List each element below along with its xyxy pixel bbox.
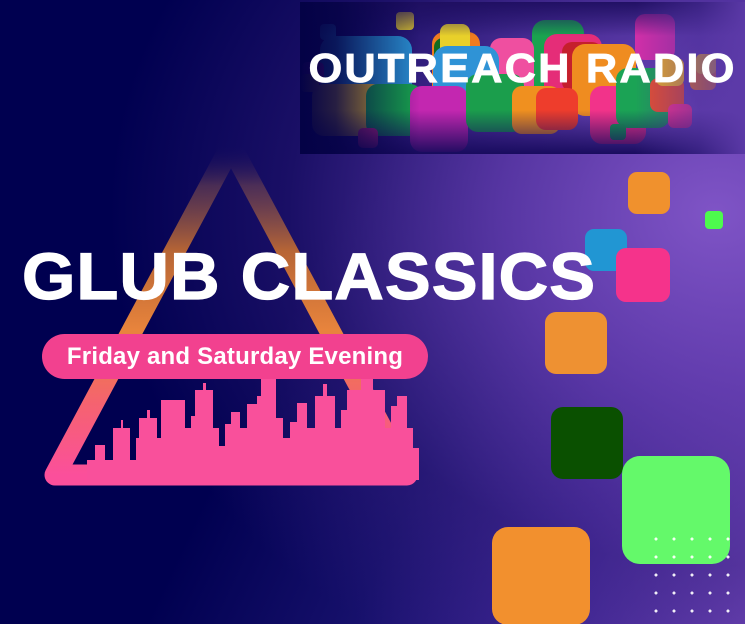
orange-square-lower xyxy=(492,527,590,624)
station-logo-text: OUTREACH RADIO xyxy=(287,48,745,89)
city-skyline xyxy=(87,370,419,480)
pink-square xyxy=(616,248,670,302)
orange-square-upper xyxy=(628,172,670,214)
page-title: GLUB CLASSICS xyxy=(22,243,542,309)
dot-grid-pattern xyxy=(643,526,739,618)
schedule-badge: Friday and Saturday Evening xyxy=(42,334,428,379)
darkgreen-square xyxy=(551,407,623,479)
poster-canvas: GLUB CLASSICS Friday and Saturday Evenin… xyxy=(0,0,745,624)
green-square-tiny xyxy=(705,211,723,229)
orange-square-mid xyxy=(545,312,607,374)
emblem-svg xyxy=(35,128,427,503)
triangle-skyline-emblem xyxy=(35,128,427,503)
station-logo: OUTREACH RADIO xyxy=(300,2,745,154)
schedule-label: Friday and Saturday Evening xyxy=(67,343,403,371)
